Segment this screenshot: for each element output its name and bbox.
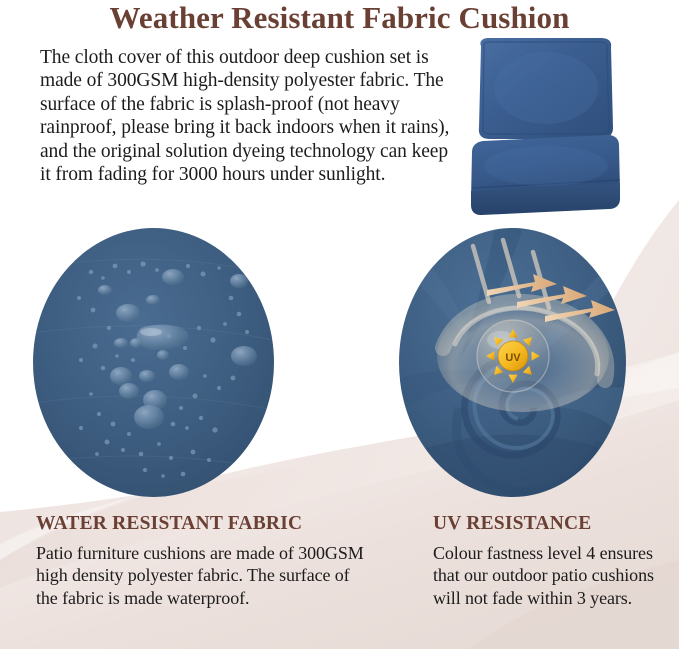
infographic-page: Weather Resistant Fabric Cushion The clo… [0, 0, 679, 649]
intro-paragraph: The cloth cover of this outdoor deep cus… [40, 46, 450, 186]
uv-badge-label: UV [505, 352, 521, 364]
uv-sun-icon: UV [399, 228, 626, 497]
page-title: Weather Resistant Fabric Cushion [0, 0, 679, 36]
feature-image-uv-resistance: UV [399, 228, 626, 497]
feature-body-uv-resistance: Colour fastness level 4 ensures that our… [433, 542, 673, 609]
feature-heading-water-resistant: WATER RESISTANT FABRIC [36, 512, 366, 536]
cushion-illustration-svg [462, 36, 630, 222]
uv-badge: UV [477, 320, 549, 392]
feature-heading-uv-resistance: UV RESISTANCE [433, 512, 673, 536]
feature-block-water-resistant: WATER RESISTANT FABRIC Patio furniture c… [36, 512, 366, 609]
cushion-seat-highlight [484, 146, 608, 186]
cushion-back-highlight [494, 52, 598, 124]
water-droplets-icon [33, 228, 274, 497]
product-cushion-image [462, 36, 630, 222]
feature-image-water-resistant [33, 228, 274, 497]
feature-body-water-resistant: Patio furniture cushions are made of 300… [36, 542, 366, 609]
feature-block-uv-resistance: UV RESISTANCE Colour fastness level 4 en… [433, 512, 673, 609]
